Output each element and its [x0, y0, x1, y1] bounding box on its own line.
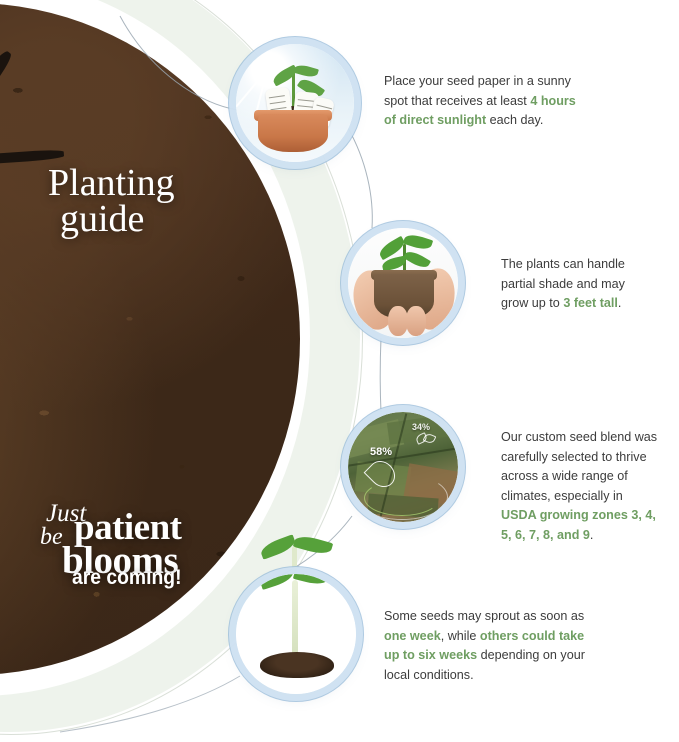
sprout-icon [416, 434, 434, 446]
finger [406, 306, 426, 336]
secondary-stat-label: 34% [412, 422, 430, 432]
step-text-partial-shade: The plants can handle partial shade and … [501, 255, 651, 314]
tagline-word-are-coming: are coming! [72, 566, 182, 590]
step-image-sunlight [236, 44, 354, 162]
step-text-sunlight: Place your seed paper in a sunny spot th… [384, 72, 590, 131]
step-image-germination-time [236, 574, 356, 694]
finger [388, 306, 408, 336]
planting-guide-poster: Planting guide Just be patient blooms ar… [0, 0, 679, 742]
page-title-line1: Planting [48, 166, 175, 201]
step-image-partial-shade [348, 228, 458, 338]
step-text-climate-zones: Our custom seed blend was carefully sele… [501, 428, 659, 545]
step-text-germination-time: Some seeds may sprout as soon as one wee… [384, 607, 590, 685]
page-title-line2: guide [60, 202, 144, 237]
terracotta-pot [258, 114, 328, 152]
tagline-word-be: be [40, 524, 63, 551]
data-curve [364, 480, 440, 516]
seedling-stem [292, 580, 298, 660]
moisture-stat-label: 58% [370, 446, 392, 458]
step-image-climate-zones: 58% 34% [348, 412, 458, 522]
soil-mound [260, 652, 334, 678]
